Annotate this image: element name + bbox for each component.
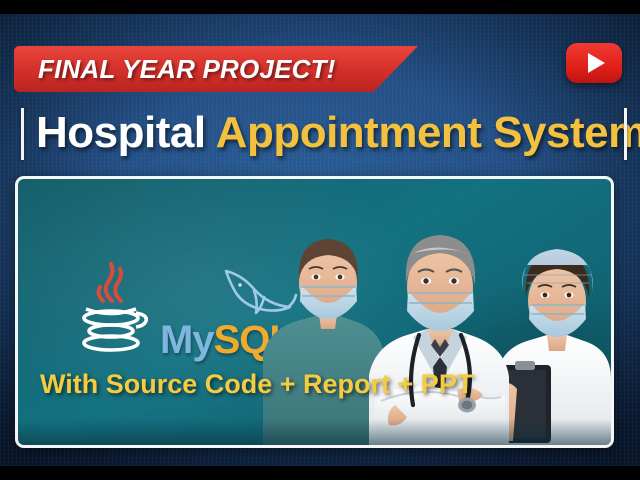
- thumbnail-stage: FINAL YEAR PROJECT! Hospital Appointment…: [0, 0, 640, 480]
- content-panel: MySQL.+ With Source Code + Report + PPT: [15, 176, 614, 448]
- title-accent: Appointment System: [216, 108, 640, 157]
- floor-shadow: [18, 419, 611, 445]
- title-primary: Hospital: [36, 108, 206, 157]
- person-nurse-right: [497, 249, 611, 445]
- youtube-play-button[interactable]: [566, 43, 622, 83]
- ribbon-label: FINAL YEAR PROJECT!: [38, 54, 336, 85]
- person-doctor-center: [369, 235, 509, 445]
- title-row: Hospital Appointment System: [0, 104, 640, 162]
- title-divider-left: [21, 108, 24, 160]
- play-triangle-icon: [588, 53, 605, 73]
- java-coffee-cup-icon: [66, 261, 154, 353]
- letterbox-top: [0, 0, 640, 14]
- title-divider-right: [624, 108, 627, 160]
- person-nurse-left: [263, 239, 385, 445]
- letterbox-bottom: [0, 466, 640, 480]
- mysql-my-text: My: [160, 318, 214, 362]
- subtitle-label: With Source Code + Report + PPT: [40, 369, 473, 400]
- medical-staff-photo: [261, 179, 611, 445]
- final-year-project-ribbon: FINAL YEAR PROJECT!: [14, 46, 418, 92]
- page-title: Hospital Appointment System: [36, 111, 640, 155]
